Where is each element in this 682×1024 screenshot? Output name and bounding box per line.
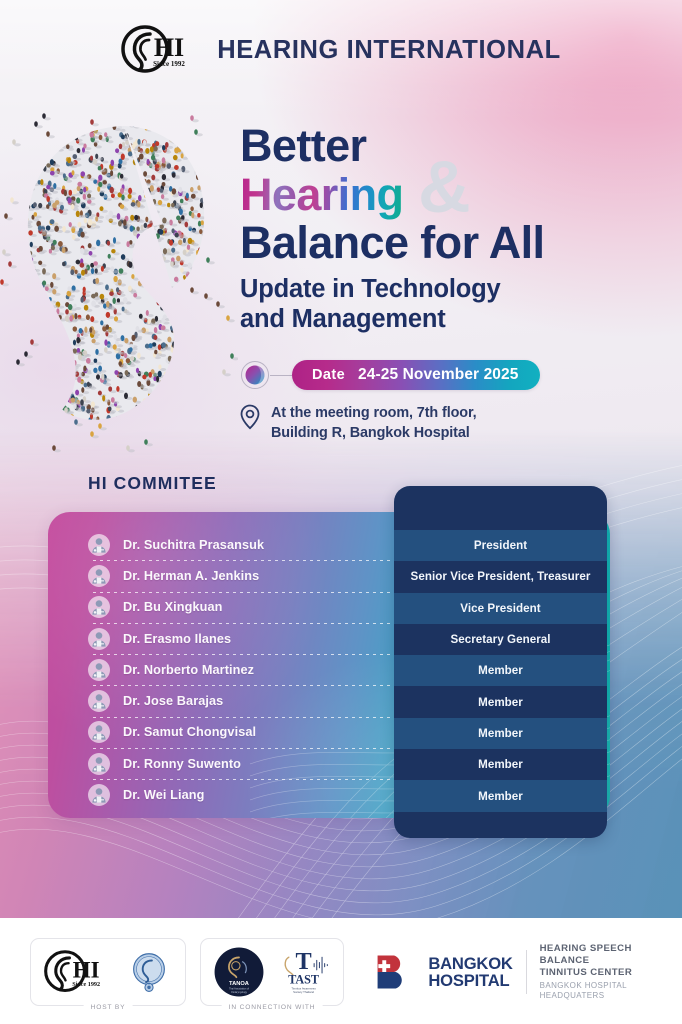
committee-member-name: Dr. Herman A. Jenkins [123,569,259,583]
committee-member-row: Dr. Herman A. Jenkins [48,560,400,591]
committee-member-name: Dr. Jose Barajas [123,694,223,708]
location-pin-icon [240,404,260,430]
gradient-circle-icon [240,360,270,390]
svg-text:T: T [295,948,311,975]
poster-root: HI Since 1992 HEARING INTERNATIONAL Bett… [0,0,682,1024]
committee-member-name: Dr. Wei Liang [123,788,204,802]
committee-member-name: Dr. Bu Xingkuan [123,600,223,614]
hospital-name-line-2: HOSPITAL [428,972,512,989]
poster-header: HI Since 1992 HEARING INTERNATIONAL [0,24,682,76]
committee-member-row: Dr. Wei Liang [48,779,400,810]
committee-member-row: Dr. Jose Barajas [48,685,400,716]
date-row: Date 24-25 November 2025 [240,358,540,392]
logo-since-text: Since 1992 [153,60,185,68]
committee-member-name: Dr. Erasmo Ilanes [123,632,231,646]
doctor-avatar-icon [88,565,110,587]
committee-member-list: Dr. Suchitra Prasansuk Dr. Herman A. Jen… [48,529,400,811]
connection-caption: IN CONNECTION WITH [222,1004,323,1011]
svg-text:Society Thailand: Society Thailand [293,990,314,994]
committee-heading: HI COMMITEE [88,473,217,494]
svg-text:HI: HI [73,957,100,982]
center-line-3: BANGKOK HOSPITAL HEADQUATERS [540,981,672,1002]
committee-role-text: President [474,539,527,552]
thai-audiology-seal-logo [125,948,173,996]
committee-role-text: Member [478,696,523,709]
date-connector-line [270,375,292,376]
doctor-avatar-icon [88,753,110,775]
committee-role-text: Secretary General [450,633,550,646]
svg-text:Otolaryngology: Otolaryngology [231,991,248,994]
committee-member-row: Dr. Ronny Suwento [48,748,400,779]
committee-member-row: Dr. Samut Chongvisal [48,717,400,748]
committee-role-row: Member [394,655,607,686]
committee-role-text: Member [478,758,523,771]
committee-role-row: Member [394,718,607,749]
committee-role-list: PresidentSenior Vice President, Treasure… [394,530,607,812]
hero-headline: Better & Hearing Balance for All Update … [240,124,680,334]
committee-member-row: Dr. Erasmo Ilanes [48,623,400,654]
doctor-avatar-icon [88,659,110,681]
poster-footer: HI Since 1992 HOST BY [0,918,682,1024]
header-title: HEARING INTERNATIONAL [217,36,561,65]
footer-divider [526,950,527,994]
committee-role-text: Vice President [460,602,540,615]
date-label: Date [312,367,345,383]
headline-ampersand: & [418,151,471,224]
center-line-2: TINNITUS CENTER [540,967,672,979]
venue-line-2: Building R, Bangkok Hospital [271,424,477,444]
committee-role-row: Secretary General [394,624,607,655]
committee-role-row: Member [394,686,607,717]
venue-text: At the meeting room, 7th floor, Building… [271,404,477,443]
doctor-avatar-icon [88,596,110,618]
crowd-people-ear-illustration [0,104,238,456]
connection-logo-box: TANOA Thai Association of Otolaryngology… [200,938,344,1006]
tanoa-label: TANOA [229,981,249,987]
svg-text:TAST: TAST [288,973,319,987]
committee-member-row: Dr. Norberto Martinez [48,654,400,685]
tast-logo: T TAST Tinnitus Awareness Society Thaila… [273,945,331,999]
committee-roles-card: PresidentSenior Vice President, Treasure… [394,486,607,838]
committee-member-name: Dr. Ronny Suwento [123,757,241,771]
committee-role-text: Member [478,727,523,740]
doctor-avatar-icon [88,690,110,712]
bangkok-hospital-cross-logo [376,950,415,994]
host-logo-box: HI Since 1992 HOST BY [30,938,186,1006]
subtitle-line-1: Update in Technology [240,274,680,304]
committee-role-row: Vice President [394,593,607,624]
center-line-1: HEARING SPEECH BALANCE [540,943,672,968]
headline-subtitle: Update in Technology and Management [240,274,680,334]
committee-role-row: Member [394,780,607,811]
committee-role-row: President [394,530,607,561]
hearing-international-ear-logo: HI Since 1992 [121,25,203,75]
svg-text:Since 1992: Since 1992 [72,982,100,988]
committee-role-text: Member [478,790,523,803]
venue-line-1: At the meeting room, 7th floor, [271,404,477,424]
date-value: 24-25 November 2025 [358,366,518,384]
committee-member-name: Dr. Suchitra Prasansuk [123,538,264,552]
committee-role-text: Senior Vice President, Treasurer [411,570,591,583]
hospital-name-line-1: BANGKOK [428,955,512,972]
svg-text:HI: HI [154,33,184,62]
committee-role-row: Member [394,749,607,780]
svg-text:Thai Association of: Thai Association of [229,988,249,991]
doctor-avatar-icon [88,721,110,743]
committee-member-name: Dr. Norberto Martinez [123,663,254,677]
hearing-international-ear-logo: HI Since 1992 [43,950,117,994]
headline-line-2-wrap: & Hearing [240,169,680,221]
doctor-avatar-icon [88,534,110,556]
committee-member-row: Dr. Suchitra Prasansuk [48,529,400,560]
committee-role-row: Senior Vice President, Treasurer [394,561,607,592]
subtitle-line-2: and Management [240,304,680,334]
committee-member-name: Dr. Samut Chongvisal [123,725,256,739]
doctor-avatar-icon [88,784,110,806]
host-caption: HOST BY [84,1004,133,1011]
headline-line-2: Hearing [240,169,403,220]
tanoa-circle-logo: TANOA Thai Association of Otolaryngology [213,946,265,998]
audio-waveform-icon [0,460,84,498]
venue-block: At the meeting room, 7th floor, Building… [240,404,477,443]
committee-role-text: Member [478,664,523,677]
doctor-avatar-icon [88,628,110,650]
committee-member-row: Dr. Bu Xingkuan [48,592,400,623]
bangkok-hospital-group: BANGKOK HOSPITAL HEARING SPEECH BALANCE … [376,943,672,1002]
date-badge: Date 24-25 November 2025 [292,360,540,390]
